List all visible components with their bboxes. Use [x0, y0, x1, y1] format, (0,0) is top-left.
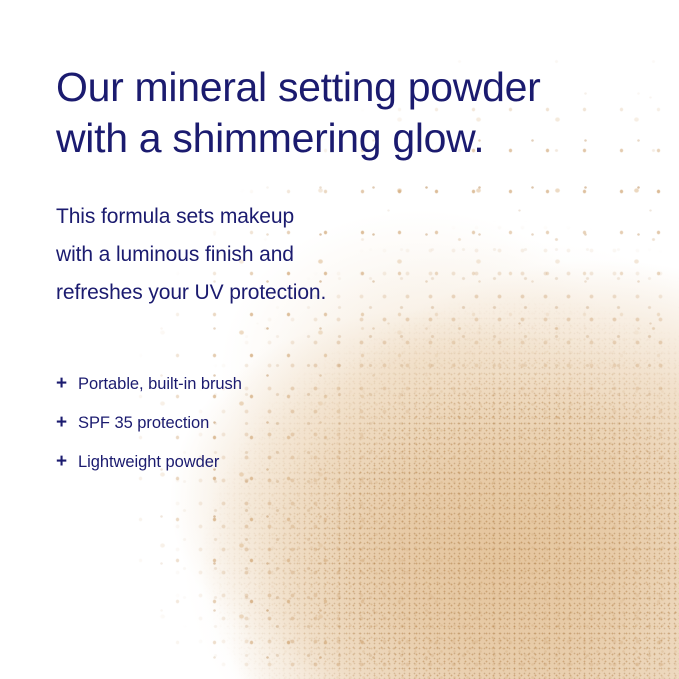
- plus-icon: +: [56, 374, 78, 393]
- plus-icon: +: [56, 413, 78, 432]
- feature-item-spf-protection: + SPF 35 protection: [56, 413, 616, 432]
- feature-label: Portable, built-in brush: [78, 376, 242, 393]
- feature-item-portable-brush: + Portable, built-in brush: [56, 374, 616, 393]
- subcopy: This formula sets makeup with a luminous…: [56, 164, 616, 312]
- feature-label: Lightweight powder: [78, 454, 219, 471]
- copy-block: Our mineral setting powder with a shimme…: [56, 0, 616, 491]
- feature-list: + Portable, built-in brush + SPF 35 prot…: [56, 312, 616, 471]
- headline: Our mineral setting powder with a shimme…: [56, 0, 616, 164]
- plus-icon: +: [56, 452, 78, 471]
- product-marketing-card: Our mineral setting powder with a shimme…: [0, 0, 679, 679]
- feature-item-lightweight-powder: + Lightweight powder: [56, 452, 616, 471]
- feature-label: SPF 35 protection: [78, 415, 209, 432]
